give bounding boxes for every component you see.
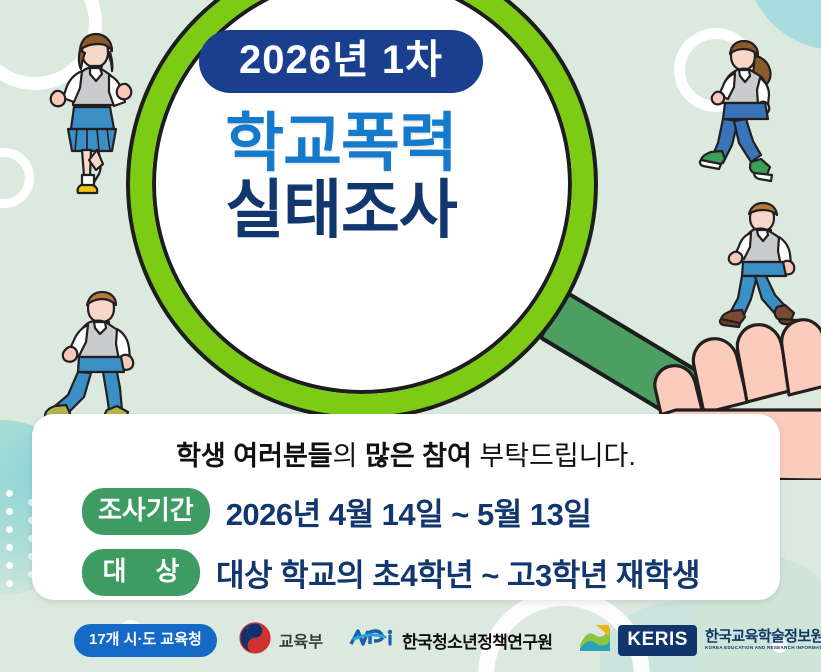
logo-nypi-label: 한국청소년정책연구원 <box>402 628 552 653</box>
logo-nypi: 한국청소년정책연구원 <box>349 625 552 656</box>
poster-title-line2: 실태조사 <box>225 178 457 243</box>
title-block: 2026년 1차 학교폭력 실태조사 <box>131 0 551 372</box>
keris-name-block: 한국교육학술정보원 KOREA EDUCATION AND RESEARCH I… <box>705 629 821 652</box>
keris-mark-icon <box>578 623 612 658</box>
logo-ministry-of-education: 교육부 <box>239 622 323 659</box>
footer-logos: 17개 시·도 교육청 교육부 <box>0 608 821 672</box>
keris-wordmark: KERIS <box>618 625 697 656</box>
logo-moe-label: 교육부 <box>279 628 323 652</box>
label-survey-target: 대 상 <box>82 549 200 596</box>
year-badge: 2026년 1차 <box>199 30 483 93</box>
value-survey-period: 2026년 4월 14일 ~ 5월 13일 <box>226 489 592 534</box>
headline-bold-2: 많은 참여 <box>365 441 472 471</box>
headline-bold-1: 학생 여러분들 <box>176 441 333 471</box>
label-survey-period: 조사기간 <box>82 488 210 535</box>
keris-name-english: KOREA EDUCATION AND RESEARCH INFORMATION… <box>705 646 821 651</box>
badge-education-offices: 17개 시·도 교육청 <box>74 624 217 657</box>
nypi-mark-icon <box>349 625 395 656</box>
info-row-period: 조사기간 2026년 4월 14일 ~ 5월 13일 <box>54 488 758 535</box>
decor-ring-left <box>0 148 34 208</box>
headline-light-1: 의 <box>333 441 365 471</box>
info-row-target: 대 상 대상 학교의 초4학년 ~ 고3학년 재학생 <box>54 549 758 596</box>
poster-canvas: 2026년 1차 학교폭력 실태조사 학생 여러분들의 많은 참여 부탁드립니다… <box>0 0 821 672</box>
panel-headline: 학생 여러분들의 많은 참여 부탁드립니다. <box>54 440 758 474</box>
taegeuk-icon <box>239 622 271 659</box>
logo-keris: KERIS 한국교육학술정보원 KOREA EDUCATION AND RESE… <box>578 623 821 658</box>
value-survey-target: 대상 학교의 초4학년 ~ 고3학년 재학생 <box>216 550 700 595</box>
illustration-girl-student-running <box>683 40 788 190</box>
keris-name-korean: 한국교육학술정보원 <box>705 629 821 645</box>
poster-title-line1: 학교폭력 <box>225 111 457 176</box>
headline-light-2: 부탁드립니다. <box>472 441 636 471</box>
info-panel: 학생 여러분들의 많은 참여 부탁드립니다. 조사기간 2026년 4월 14일… <box>32 414 780 600</box>
